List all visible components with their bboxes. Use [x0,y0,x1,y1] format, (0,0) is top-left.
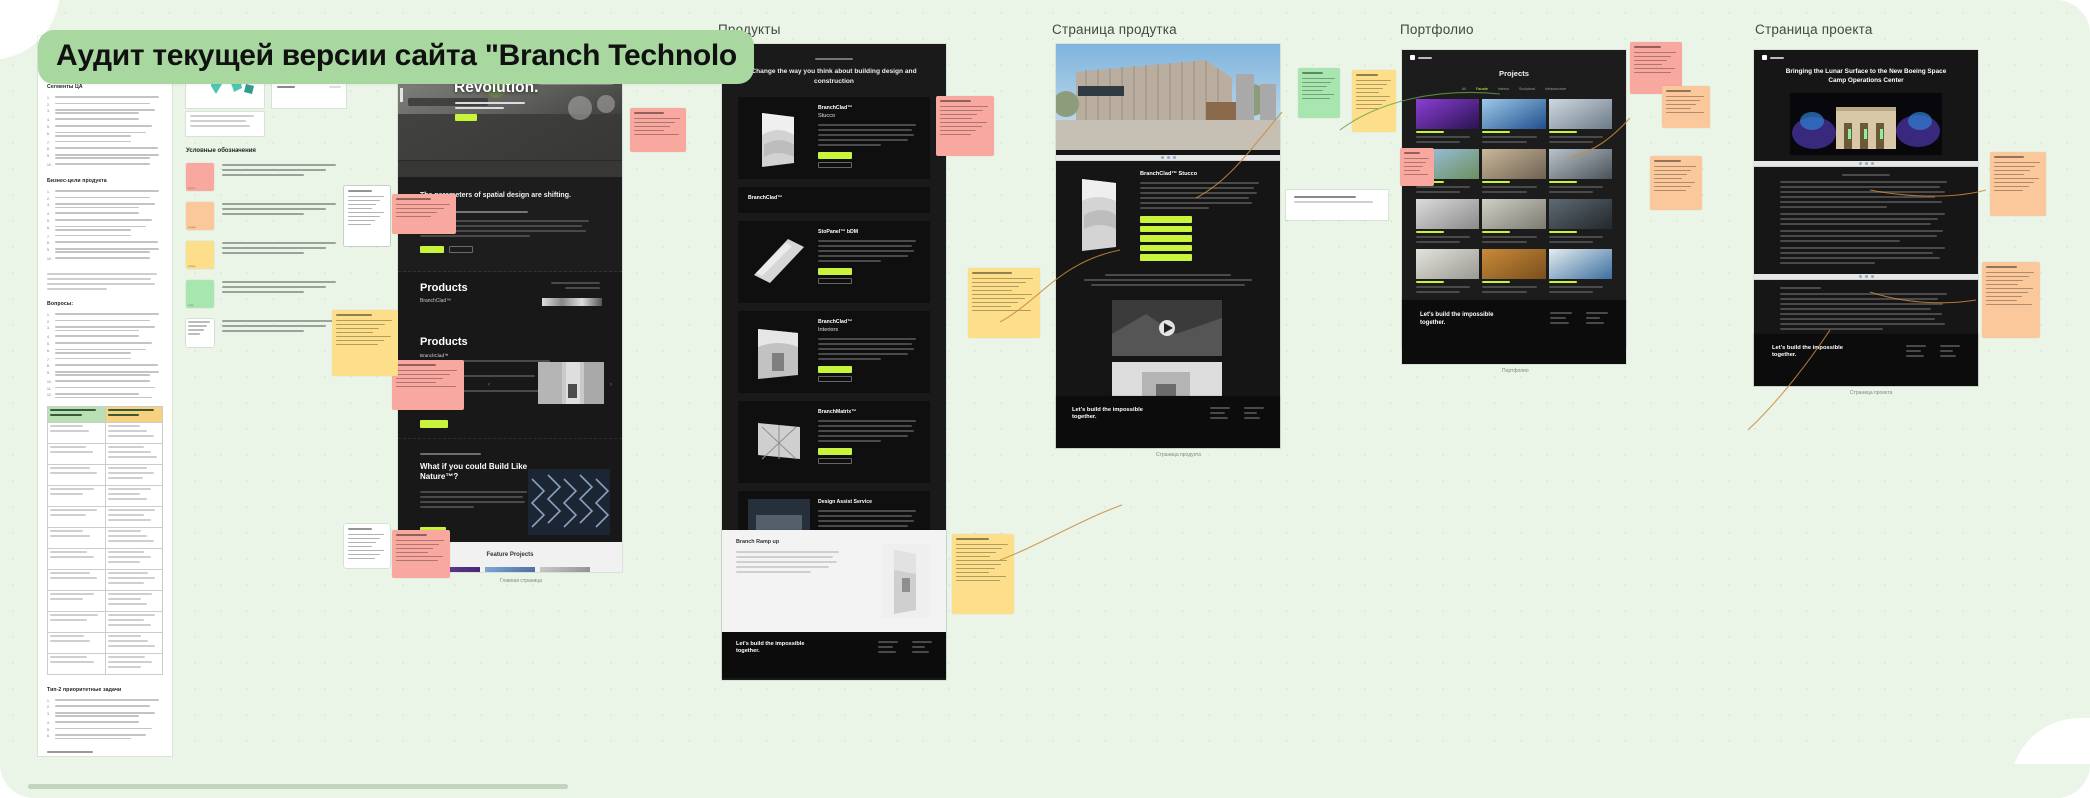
portfolio-frame-caption: Портфолио [1502,368,1529,374]
list-item: 3. [47,109,163,116]
portfolio-filter-all[interactable]: All [1462,87,1466,91]
table-cell [48,569,106,590]
homepage-hero-sub [455,102,525,112]
sticky-note-line [1666,112,1704,114]
section-label-portfolio: Портфолио [1400,22,1474,37]
sticky-note-line [1994,174,2024,176]
sticky-note-line [956,552,996,554]
table-row [48,569,163,590]
project-body-1 [1754,167,1978,274]
hero-prev-arrow-icon[interactable] [400,88,403,102]
sticky-note-line [348,224,371,226]
sticky-note-heading [348,528,372,530]
sticky-note-line [348,550,384,552]
sticky-note[interactable] [968,268,1040,338]
sticky-note-line [396,552,428,554]
sticky-note-line [348,208,372,210]
table-row [48,464,163,485]
portfolio-card[interactable] [1482,149,1545,196]
product-card-secondary-button[interactable] [818,376,852,383]
product-card-primary-button[interactable] [818,366,852,373]
list-item: 5. [47,219,163,223]
table-cell [48,485,106,506]
portfolio-card-meta [1549,131,1612,143]
sticky-note-line [1994,186,2029,188]
product-card-body: StoPanel™ bDM [818,229,920,295]
sticky-note-line [956,564,1001,566]
table-cell [105,485,163,506]
list-item: 4. [47,212,163,216]
legend-swatch: средне [186,202,214,230]
project-page-footer-cta: Let's build the impossible together. [1772,345,1852,375]
list-item: 1. [47,699,163,703]
sticky-note-line [1986,280,2023,282]
sticky-note-heading [336,314,372,316]
product-card[interactable]: BranchMatrix™ [738,401,930,483]
sticky-note-line [940,130,976,132]
table-cell [48,443,106,464]
product-card-secondary-button[interactable] [818,162,852,169]
sticky-note-line [1666,108,1691,110]
portfolio-card-meta [1549,231,1612,243]
list-item: 7. [47,235,163,239]
portfolio-card[interactable] [1482,199,1545,246]
sticky-note[interactable] [1650,156,1702,210]
portfolio-card[interactable] [1416,99,1479,146]
doc-heading-questions: Вопросы: [47,301,163,307]
homepage-products-block-1: Products BranchClad™ [398,272,622,326]
table-cell [105,653,163,674]
homepage-mockup-frame[interactable]: Built-World Revolution. The parameters o… [398,44,622,572]
product-card[interactable]: BranchClad™ [738,187,930,213]
product-card[interactable]: BranchClad™Stucco [738,97,930,179]
legend-item [186,319,346,347]
homepage-nature-block: What if you could Build Like Nature™? [398,438,622,542]
homepage-hero-cta-button[interactable] [455,114,477,121]
sticky-note-line [940,114,977,116]
sticky-note-line [336,324,385,326]
products-header: Change the way you think about building … [722,44,946,97]
sticky-note-heading [1356,74,1378,76]
sticky-note-heading [396,534,427,536]
sticky-note-line [956,572,989,574]
list-item: 10. [47,380,163,384]
sticky-note-line [1634,68,1675,70]
list-item: 7. [47,358,163,362]
product-video-card[interactable] [1112,300,1222,356]
sticky-note-line [1356,88,1383,90]
portfolio-card[interactable] [1549,149,1612,196]
sticky-note[interactable] [392,360,464,410]
list-item: 12. [47,393,163,400]
gallery-next-arrow-icon[interactable]: › [610,382,612,388]
portfolio-card-meta [1549,181,1612,193]
sticky-note[interactable] [936,96,994,156]
product-page-button[interactable] [1140,226,1192,233]
product-page-button[interactable] [1140,235,1192,242]
sticky-note-line [1404,166,1423,168]
sticky-note-line [348,200,380,202]
product-render-block [748,319,810,385]
doc-heading-segments: Сегменты ЦА [47,84,163,90]
board-title-text: Аудит текущей версии сайта "Branch Techn… [56,39,736,73]
sticky-note-line [1302,90,1323,92]
sticky-note-line [634,134,679,136]
portfolio-footer: Let's build the impossible together. [1402,300,1626,364]
sticky-note-line [972,294,1032,296]
project-page-frame-caption: Страница проекта [1850,390,1892,396]
ramp-product-photo [882,544,930,618]
portfolio-card-thumbnail [1416,249,1479,279]
sticky-note-line [1634,72,1671,74]
list-item: 8. [47,364,163,368]
sticky-note-line [1404,162,1426,164]
product-page-button[interactable] [1140,245,1192,252]
products-title-2: Products [420,336,600,348]
product-card-primary-button[interactable] [818,268,852,275]
sticky-note-line [1654,182,1695,184]
sticky-note-line [348,204,376,206]
list-item: 10. [47,163,163,167]
table-cell [48,464,106,485]
list-item: 1. [47,313,163,317]
portfolio-card-thumbnail [1416,199,1479,229]
homepage-section2-primary-button[interactable] [420,246,444,253]
sticky-note-line [396,204,450,206]
list-item: 4. [47,335,163,339]
sticky-note-line [940,134,971,136]
legend-label [222,319,346,335]
sticky-note-heading [1302,72,1323,74]
legend-swatch: плюс [186,280,214,308]
product-card-body: BranchClad™ [748,195,920,205]
list-item: 5. [47,342,163,346]
audit-document-frame[interactable]: Сегменты ЦА 1.2.3.4.5.6.7.8.9.10. Бизнес… [38,36,172,756]
sticky-note-line [396,382,436,384]
product-card-title: BranchMatrix™ [818,409,920,415]
homepage-products-cta-button[interactable] [420,420,448,428]
feature-card[interactable] [540,567,590,572]
sticky-note-heading [348,190,372,192]
portfolio-card-meta [1416,231,1479,243]
sticky-note-line [1986,296,2022,298]
table-row [48,590,163,611]
legend-panel: Условные обозначения критич.средненизкое… [186,148,346,358]
table-cell [105,527,163,548]
sticky-note-line [634,118,680,120]
legend-label [222,202,346,218]
sticky-note-line [1986,272,2034,274]
portfolio-filter-facade[interactable]: Facade [1476,87,1488,91]
gallery-prev-arrow-icon[interactable]: ‹ [488,382,490,388]
sticky-note[interactable] [1990,152,2046,216]
table-cell [105,590,163,611]
portfolio-card-meta [1416,131,1479,143]
product-card-body: BranchMatrix™ [818,409,920,475]
product-page-detail: BranchClad™ Stucco [1056,161,1280,298]
list-item: 3. [47,326,163,333]
sticky-note-line [1302,78,1335,80]
sticky-note-line [396,370,457,372]
sticky-note[interactable] [344,186,390,246]
portfolio-card-thumbnail [1482,249,1545,279]
sticky-note-line [956,544,1008,546]
sticky-note-line [1356,104,1382,106]
sticky-note-line [1356,96,1390,98]
sticky-note-line [972,302,1018,304]
product-render-curve [748,105,810,171]
list-item: 7. [47,141,163,145]
table-header-row [48,406,163,422]
sticky-note-line [1634,52,1676,54]
list-item: 9. [47,248,163,255]
sticky-note-line [1986,304,2032,306]
table-row [48,653,163,674]
table-row [48,527,163,548]
portfolio-card[interactable] [1482,99,1545,146]
sticky-note[interactable] [1352,70,1396,132]
sticky-note-line [348,542,376,544]
list-item: 6. [47,734,163,741]
sticky-note-line [396,544,439,546]
product-card-primary-button[interactable] [818,448,852,455]
product-card-title: StoPanel™ bDM [818,229,920,235]
list-item: 4. [47,118,163,122]
portfolio-filter-infrastructure[interactable]: Infrastructure [1545,87,1566,91]
product-page-button[interactable] [1140,254,1192,261]
horizontal-scrollbar-thumb[interactable] [28,784,568,789]
sticky-note-line [940,126,982,128]
sticky-note-line [348,212,384,214]
legend-label [222,280,346,296]
sticky-note-line [1986,292,2028,294]
portfolio-card-meta [1482,281,1545,293]
product-card-body: BranchClad™Interiors [818,319,920,385]
portfolio-navbar [1402,50,1626,65]
product-page-button[interactable] [1140,216,1192,223]
legend-swatch-caption: низкое [188,265,195,268]
sticky-note-line [1404,174,1428,176]
legend-item: критич. [186,163,346,191]
sticky-note-line [1356,84,1387,86]
list-item: 5. [47,125,163,129]
sticky-note-line [1654,166,1696,168]
horizontal-scroll-area[interactable] [0,764,2090,798]
portfolio-card[interactable] [1549,99,1612,146]
portfolio-card-meta [1482,231,1545,243]
doc-list-tasks: 1.2.3.4.5.6. [47,699,163,741]
sticky-note-line [1356,92,1379,94]
portfolio-card-thumbnail [1482,199,1545,229]
sticky-note-line [348,220,375,222]
sticky-note[interactable] [1662,86,1710,128]
sticky-note-line [1986,276,2029,278]
product-page-footer: Let's build the impossible together. [1056,396,1280,448]
sticky-note-line [396,386,456,388]
table-row [48,485,163,506]
sticky-note-line [336,320,392,322]
sticky-note-line [336,332,373,334]
table-cell [105,464,163,485]
sticky-note-line [1302,86,1327,88]
sticky-note-line [956,576,1006,578]
product-card[interactable]: BranchClad™Interiors [738,311,930,393]
homepage-section2-secondary-button[interactable] [449,246,473,253]
sticky-note-line [336,328,379,330]
portfolio-card-meta [1482,131,1545,143]
legend-swatch: критич. [186,163,214,191]
sticky-note-line [1994,166,2035,168]
portfolio-card[interactable] [1482,249,1545,296]
feature-card[interactable] [485,567,535,572]
project-hero-photo [1790,93,1942,155]
product-card-subtitle: Interiors [818,327,920,333]
portfolio-card-thumbnail [1482,149,1545,179]
board-title-banner[interactable]: Аудит текущей версии сайта "Branch Techn… [38,30,754,84]
portfolio-project-grid [1402,91,1626,296]
sticky-note-line [1654,190,1686,192]
sticky-note-line [1634,60,1667,62]
portfolio-footer-cta: Let's build the impossible together. [1420,312,1506,352]
list-item: 2. [47,197,163,201]
list-item: 2. [47,320,163,324]
sticky-note-line [348,196,384,198]
sticky-note-line [348,534,384,536]
sticky-note-line [1994,178,2039,180]
product-card-title: Design Assist Service [818,499,920,505]
table-cell [105,611,163,632]
sticky-note-line [1634,64,1662,66]
sticky-note-line [396,208,444,210]
sticky-note-line [634,122,675,124]
doc-list-questions: 1.2.3.4.5.6.7.8.9.10.11.12. [47,313,163,400]
portfolio-filter-sculptural[interactable]: Sculptural [1519,87,1535,91]
list-item: 3. [47,712,163,719]
brand-logo-icon [1410,55,1415,60]
legend-item: низкое [186,241,346,269]
portfolio-card[interactable] [1549,249,1612,296]
sticky-note-line [972,286,1019,288]
list-item: 8. [47,147,163,151]
sticky-note-line [396,378,443,380]
table-header-cell [105,406,163,422]
table-cell [48,632,106,653]
small-note-card-a[interactable] [186,112,264,136]
sticky-note-line [940,110,983,112]
design-board-canvas[interactable]: ПродуктыСтраница продуткаПортфолиоСтрани… [0,0,2090,798]
sticky-note-line [956,548,1002,550]
sticky-note[interactable] [1298,68,1340,118]
doc-tail-paragraph [47,751,163,756]
table-row [48,422,163,443]
portfolio-card[interactable] [1549,199,1612,246]
sticky-note-line [1404,158,1429,160]
list-item: 1. [47,190,163,194]
sticky-note-line [396,212,437,214]
doc-list-goals: 1.2.3.4.5.6.7.8.9.10. [47,190,163,261]
sticky-note-line [972,298,1025,300]
product-strip-thumbnail [542,298,602,306]
sticky-note-line [956,560,1007,562]
table-cell [105,506,163,527]
list-item: 3. [47,203,163,210]
legend-swatch-caption: критич. [188,187,196,190]
portfolio-card[interactable] [1416,199,1479,246]
portfolio-card-thumbnail [1549,199,1612,229]
table-cell [105,422,163,443]
product-card[interactable]: StoPanel™ bDM [738,221,930,303]
sticky-note[interactable] [1982,262,2040,338]
product-card-primary-button[interactable] [818,152,852,159]
portfolio-card[interactable] [1416,249,1479,296]
sticky-note-line [1994,170,2030,172]
sticky-note[interactable] [332,310,398,376]
sticky-note-line [348,554,380,556]
products-page-header: Change the way you think about building … [748,67,920,87]
table-cell [48,527,106,548]
sticky-note-line [1356,108,1378,110]
table-row [48,506,163,527]
sticky-note[interactable] [392,530,450,578]
product-card-secondary-button[interactable] [818,458,852,465]
sticky-note-line [1356,100,1386,102]
sticky-note[interactable] [344,524,390,568]
table-row [48,611,163,632]
legend-swatch-caption: средне [188,226,196,229]
list-item: 8. [47,241,163,245]
table-row [48,548,163,569]
lattice-photo [528,469,610,535]
sticky-note[interactable] [630,108,686,152]
brand-logo-icon [1762,55,1767,60]
sticky-note-line [972,310,1031,312]
sticky-note-line [396,374,450,376]
sticky-note-line [1666,100,1700,102]
table-cell [105,548,163,569]
product-card-title: BranchClad™ [818,105,920,111]
homepage-frame-caption: Главная страница [500,578,542,584]
sticky-note[interactable] [952,534,1014,614]
sticky-note-line [972,306,1011,308]
sticky-note[interactable] [1400,148,1434,186]
legend-swatch [186,319,214,347]
sticky-note[interactable] [392,194,456,234]
product-3d-render [1072,171,1130,255]
sticky-note-line [1994,162,2040,164]
portfolio-filter-interior[interactable]: Interior [1498,87,1509,91]
table-header-cell [48,406,106,422]
sticky-note-line [348,546,372,548]
product-gallery-photo [538,362,604,404]
table-cell [48,611,106,632]
callout-white-card[interactable] [1286,190,1388,220]
sticky-note-line [1986,300,2017,302]
product-card-subtitle: Stucco [818,113,920,119]
table-row [48,632,163,653]
sticky-note-line [396,540,444,542]
legend-swatch: низкое [186,241,214,269]
doc-priority-table [47,406,163,675]
product-card-secondary-button[interactable] [818,278,852,285]
sticky-note-heading [396,364,436,366]
product-name-2a: BranchClad™ [420,353,600,358]
sticky-note-line [348,558,375,560]
sticky-note-line [1404,170,1420,172]
sticky-note-line [956,568,995,570]
products-ramp-frame[interactable]: Branch Ramp up Let's build the impossibl… [722,530,946,678]
sticky-note-line [336,340,384,342]
project-page-title: Bringing the Lunar Surface to the New Bo… [1754,65,1978,87]
